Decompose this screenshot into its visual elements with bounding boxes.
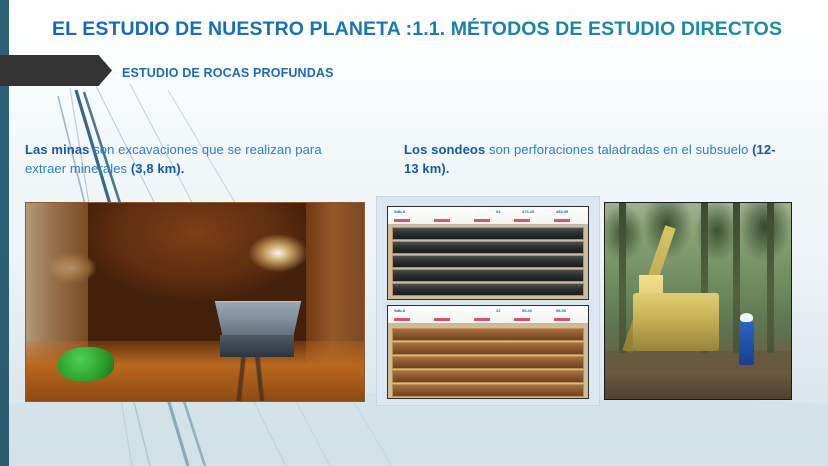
core-bottom-tick-3 xyxy=(474,318,490,321)
core-bottom-tick-4 xyxy=(514,318,530,321)
drill-core-box-dark-photo: Sdb-6 04 476.25 483.95 xyxy=(387,206,589,300)
core-box-top-label-strip: Sdb-6 04 476.25 483.95 xyxy=(388,207,588,225)
core-box-bottom-trays xyxy=(388,324,588,399)
core-bottom-from: 95.40 xyxy=(522,308,532,313)
core-bottom-run: 22 xyxy=(496,308,500,313)
core-box-bottom-label-strip: Sdb-6 22 95.40 98.56 xyxy=(388,306,588,324)
mine-tunnel-photo xyxy=(25,202,365,402)
core-tray xyxy=(392,269,584,282)
core-top-code: Sdb-6 xyxy=(394,209,405,214)
core-box-top-trays xyxy=(388,225,588,300)
forest-ground xyxy=(605,351,791,399)
paragraph-sondeos-middle: son perforaciones taladradas en el subsu… xyxy=(485,142,752,157)
forest-tree xyxy=(619,203,626,353)
core-tray xyxy=(392,328,584,341)
forest-tree xyxy=(767,203,774,353)
mine-ore-cart xyxy=(212,301,304,338)
core-photos-panel: Sdb-6 04 476.25 483.95 Sdb-6 22 xyxy=(376,196,600,406)
core-bottom-to: 98.56 xyxy=(556,308,566,313)
core-tray xyxy=(392,227,584,240)
core-top-from: 476.25 xyxy=(522,209,534,214)
core-bottom-code: Sdb-6 xyxy=(394,308,405,313)
core-bottom-tick-5 xyxy=(554,318,570,321)
core-top-tick-4 xyxy=(514,219,530,222)
core-tray xyxy=(392,370,584,383)
core-top-tick-1 xyxy=(394,219,410,222)
paragraph-minas-lead: Las minas xyxy=(25,142,90,157)
drilling-rig-forest-photo xyxy=(604,202,792,400)
section-subtitle: ESTUDIO DE ROCAS PROFUNDAS xyxy=(122,66,334,80)
page-title: EL ESTUDIO DE NUESTRO PLANETA :1.1. MÉTO… xyxy=(52,18,812,41)
paragraph-sondeos-lead: Los sondeos xyxy=(404,142,485,157)
arrow-banner-shape xyxy=(0,55,112,86)
core-tray xyxy=(392,342,584,355)
forest-canopy xyxy=(605,203,791,299)
mine-ore-cart-base xyxy=(220,335,294,357)
core-tray xyxy=(392,255,584,268)
drill-rig-body xyxy=(633,293,719,351)
slide-canvas: EL ESTUDIO DE NUESTRO PLANETA :1.1. MÉTO… xyxy=(0,0,828,466)
worker-helmet xyxy=(740,313,753,322)
core-tray xyxy=(392,384,584,397)
core-top-to: 483.95 xyxy=(556,209,568,214)
core-bottom-tick-1 xyxy=(394,318,410,321)
paragraph-minas: Las minas son excavaciones que se realiz… xyxy=(25,140,345,178)
mine-green-equipment xyxy=(58,347,114,381)
worker-figure xyxy=(739,321,754,365)
core-bottom-tick-2 xyxy=(434,318,450,321)
core-tray xyxy=(392,241,584,254)
core-top-tick-2 xyxy=(434,219,450,222)
paragraph-minas-value: (3,8 km). xyxy=(131,161,185,176)
core-top-tick-3 xyxy=(474,219,490,222)
core-top-tick-5 xyxy=(554,219,570,222)
core-tray xyxy=(392,356,584,369)
paragraph-sondeos: Los sondeos son perforaciones taladradas… xyxy=(404,140,784,178)
core-tray xyxy=(392,283,584,296)
core-top-run: 04 xyxy=(496,209,500,214)
drill-core-box-brown-photo: Sdb-6 22 95.40 98.56 xyxy=(387,305,589,399)
